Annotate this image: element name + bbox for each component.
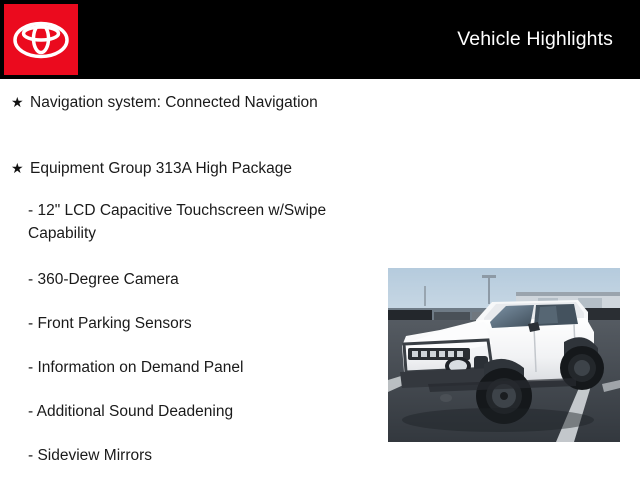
highlight-sub-item: - Sideview Mirrors [28,444,152,467]
vehicle-photo [388,268,620,442]
highlight-sub-item: - Additional Sound Deadening [28,400,233,423]
star-bullet-icon: ★ [10,91,30,114]
toyota-logo-icon [13,20,69,60]
vehicle-highlights-page: Vehicle Highlights ★ Navigation system: … [0,0,640,480]
highlight-item: ★ Navigation system: Connected Navigatio… [10,91,340,114]
highlight-sub-item: - Front Parking Sensors [28,312,192,335]
star-bullet-icon: ★ [10,157,30,180]
highlight-label: Navigation system: Connected Navigation [30,91,330,114]
page-header: Vehicle Highlights [0,0,640,79]
highlight-label: Equipment Group 313A High Package [30,157,330,180]
highlight-sub-item: - Information on Demand Panel [28,356,243,379]
page-title: Vehicle Highlights [457,0,613,79]
highlight-item: ★ Equipment Group 313A High Package [10,157,370,180]
highlight-sub-item: - 360-Degree Camera [28,268,179,291]
highlight-sub-item: - 12" LCD Capacitive Touchscreen w/Swipe… [28,199,340,245]
highlights-content: ★ Navigation system: Connected Navigatio… [0,79,640,480]
toyota-logo-tile [4,4,78,75]
